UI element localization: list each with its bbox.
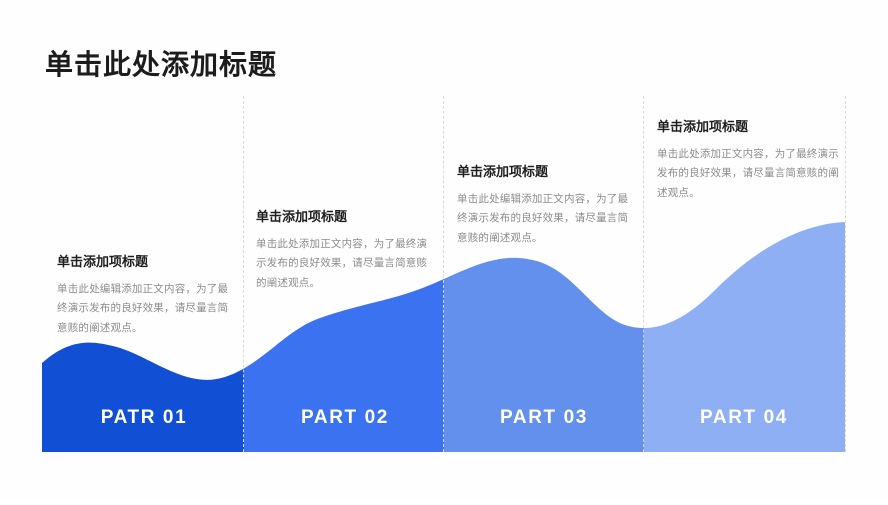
content-column-2: 单击添加项标题 单击此处添加正文内容，为了最终演示发布的良好效果，请尽量言简意赅…: [256, 209, 432, 293]
column-divider-3: [643, 96, 644, 452]
page-title[interactable]: 单击此处添加标题: [45, 48, 277, 82]
part-label-2[interactable]: PART 02: [245, 407, 445, 429]
column-2-body[interactable]: 单击此处添加正文内容，为了最终演示发布的良好效果，请尽量言简意赅的阐述观点。: [256, 235, 432, 293]
content-column-1: 单击添加项标题 单击此处编辑添加正文内容，为了最终演示发布的良好效果，请尽量言简…: [57, 254, 233, 338]
content-column-4: 单击添加项标题 单击此处添加正文内容，为了最终演示发布的良好效果，请尽量言简意赅…: [657, 119, 843, 203]
column-divider-4: [845, 96, 846, 452]
column-4-heading[interactable]: 单击添加项标题: [657, 119, 843, 136]
column-4-body[interactable]: 单击此处添加正文内容，为了最终演示发布的良好效果，请尽量言简意赅的阐述观点。: [657, 145, 843, 203]
column-divider-1: [243, 96, 244, 452]
column-1-heading[interactable]: 单击添加项标题: [57, 254, 233, 271]
column-3-heading[interactable]: 单击添加项标题: [457, 164, 633, 181]
column-1-body[interactable]: 单击此处编辑添加正文内容，为了最终演示发布的良好效果，请尽量言简意赅的阐述观点。: [57, 280, 233, 338]
part-label-3[interactable]: PART 03: [444, 407, 644, 429]
column-divider-2: [443, 96, 444, 452]
column-2-heading[interactable]: 单击添加项标题: [256, 209, 432, 226]
part-label-1[interactable]: PATR 01: [44, 407, 244, 429]
slide-canvas: 单击此处添加标题 单击添加项标题 单击此处编辑添加正文内容，为了最终演示发布的良…: [0, 0, 888, 500]
column-3-body[interactable]: 单击此处编辑添加正文内容，为了最终演示发布的良好效果，请尽量言简意赅的阐述观点。: [457, 190, 633, 248]
content-column-3: 单击添加项标题 单击此处编辑添加正文内容，为了最终演示发布的良好效果，请尽量言简…: [457, 164, 633, 248]
part-label-4[interactable]: PART 04: [644, 407, 844, 429]
